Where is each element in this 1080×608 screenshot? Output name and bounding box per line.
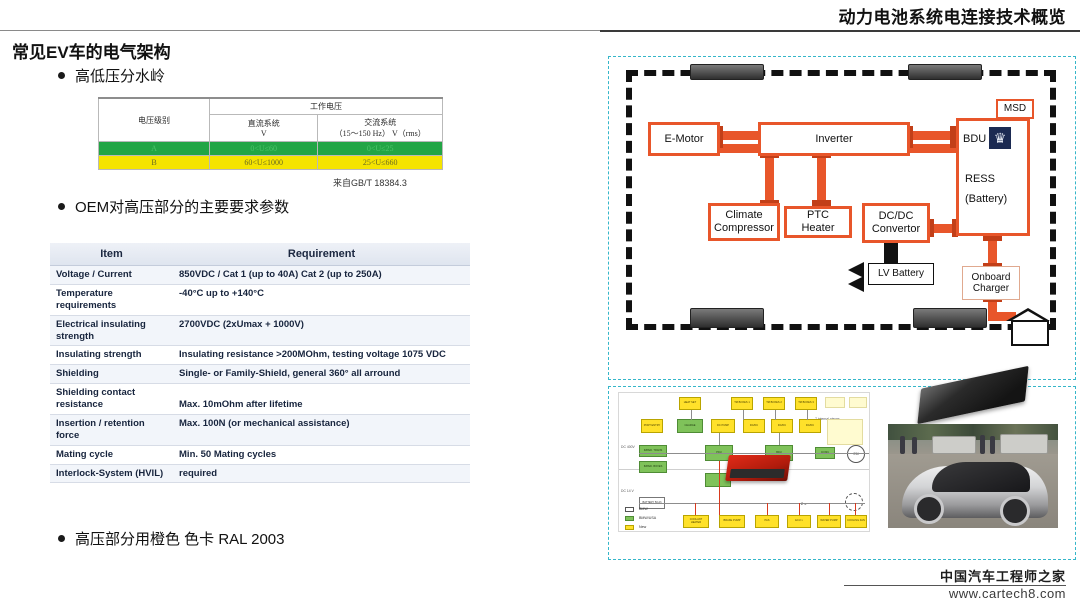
requirements-table: Item Requirement Voltage / Current 850VD… <box>50 243 470 483</box>
schematic-node: DC/DC <box>743 419 765 433</box>
photo-background-person <box>980 435 985 454</box>
schematic-wire <box>743 410 744 420</box>
cell-dc-unit: V <box>261 129 267 138</box>
schematic-node: PORT ENTRY <box>641 419 663 433</box>
header-rule <box>600 30 1080 32</box>
schematic-node: HEAT SET <box>679 397 701 410</box>
cell-requirement: Min. 50 Mating cycles <box>173 445 470 464</box>
legend-swatch-bmw <box>625 507 634 512</box>
schematic-wire-red <box>719 461 720 515</box>
cell-b-ac: 25<U≤660 <box>318 156 443 170</box>
photo-car-wheel <box>914 494 944 524</box>
block-label-climate-compressor: Climate Compressor <box>713 209 775 234</box>
block-label-lv-battery: LV Battery <box>878 268 924 280</box>
table-row-class-b: B 60<U≤1000 25<U≤660 <box>99 156 443 170</box>
cell-a-dc: 0<U≤60 <box>210 142 318 156</box>
cell-requirement: Max. 100N (or mechanical assistance) <box>173 414 470 445</box>
block-label-ptc-heater: PTC Heater <box>789 209 847 234</box>
block-e-motor[interactable]: E-Motor <box>648 122 720 156</box>
schematic-wire-red <box>829 503 830 515</box>
schematic-node: WATER PUMP <box>817 515 841 528</box>
schematic-wire-red <box>695 503 696 515</box>
schematic-node: TM BOXES 3 <box>795 397 817 410</box>
schematic-node: COOLANT HEATER <box>683 515 709 528</box>
ecu-photo <box>725 455 791 481</box>
schematic-wire <box>779 433 780 445</box>
schematic-node: ECU x <box>787 515 811 528</box>
table-row: Voltage / Current 850VDC / Cat 1 (up to … <box>50 266 470 285</box>
bullet-dot-icon <box>58 535 65 542</box>
schematic-wire-red <box>855 503 856 515</box>
table-row-header: Item Requirement <box>50 243 470 266</box>
cell-item: Insulating strength <box>50 346 173 365</box>
photo-background-van <box>1000 434 1048 454</box>
ecu-face <box>730 469 785 478</box>
schematic-wire-red <box>799 503 800 515</box>
block-onboard-charger[interactable]: Onboard Charger <box>962 266 1020 300</box>
hv-bus-inverter-bdu <box>908 131 956 140</box>
block-climate-compressor[interactable]: Climate Compressor <box>708 203 780 241</box>
block-ress-battery[interactable]: BDU ♛ RESS (Battery) <box>956 118 1030 236</box>
table-row: Insulating strength Insulating resistanc… <box>50 346 470 365</box>
photo-background-person <box>912 437 917 454</box>
cell-item: Temperature requirements <box>50 284 173 315</box>
hv-bus-inverter-climate <box>765 155 774 205</box>
block-label-ress: RESS <box>965 173 995 186</box>
table-row: Mating cycle Min. 50 Mating cycles <box>50 445 470 464</box>
bullet-dot-icon <box>58 72 65 79</box>
cell-level-header: 电压级别 <box>99 98 210 142</box>
hv-bus-inverter-ptc <box>817 155 826 205</box>
wheel-front-bottom <box>690 308 764 328</box>
schematic-node: DC/DC <box>771 419 793 433</box>
wiring-schematic-diagram[interactable]: DC 400V DC 14 V 7 internal pieces HEAT S… <box>618 392 870 532</box>
legend-swatch-bmw-usa <box>625 516 634 521</box>
cell-requirement: Single- or Family-Shield, general 360° a… <box>173 365 470 384</box>
msd-connector-icon: ♛ <box>989 127 1011 149</box>
schematic-node-faded <box>827 419 863 445</box>
wheel-rear-bottom <box>913 308 987 328</box>
table-row: Temperature requirements -40°C up to +14… <box>50 284 470 315</box>
block-label-msd: MSD <box>1004 103 1026 115</box>
table-row-class-a: A 0<U≤60 0<U≤25 <box>99 142 443 156</box>
table-row-header-1: 电压级别 工作电压 <box>99 98 443 115</box>
bullet-item-2: OEM对高压部分的主要要求参数 <box>58 196 289 217</box>
schematic-node: CHARGE <box>677 419 703 433</box>
rail-label-lv: DC 14 V <box>621 489 634 493</box>
bullet-item-1: 高低压分水岭 <box>58 65 165 86</box>
schematic-node: IMPED. BOXES <box>639 461 667 473</box>
legend-label-new: New <box>639 525 646 529</box>
block-label-dcdc-convertor: DC/DC Convertor <box>867 210 925 235</box>
hv-connector-cap <box>983 236 1002 241</box>
legend-swatch-new <box>625 525 634 530</box>
cell-item: Mating cycle <box>50 445 173 464</box>
cell-dc-header: 直流系统 V <box>210 115 318 142</box>
lv-arrow-icon <box>848 276 864 292</box>
schematic-wire-hv <box>639 453 869 454</box>
table-row: Shielding contact resistance Max. 10mOhm… <box>50 384 470 415</box>
cell-item: Electrical insulating strength <box>50 315 173 346</box>
footer-site-name: 中国汽车工程师之家 <box>940 566 1066 585</box>
bullet-item-3: 高压部分用橙色 色卡 RAL 2003 <box>58 528 285 549</box>
page-header: 动力电池系统电连接技术概览 <box>0 0 1080 32</box>
hv-bus-inverter-bdu-2 <box>908 144 956 153</box>
charge-inlet-icon <box>1011 320 1049 346</box>
schematic-node: IMPED. TRANS <box>639 445 667 457</box>
block-label-e-motor: E-Motor <box>664 133 703 146</box>
wheel-front-top <box>690 64 764 80</box>
photo-background-person <box>900 436 905 454</box>
schematic-wire <box>775 410 776 420</box>
cell-requirement: -40°C up to +140°C <box>173 284 470 315</box>
table-row: Insertion / retention force Max. 100N (o… <box>50 414 470 445</box>
block-label-ress-sub: (Battery) <box>965 193 1007 206</box>
cell-a-ac: 0<U≤25 <box>318 142 443 156</box>
wheel-rear-top <box>908 64 982 80</box>
schematic-node: DC/DC <box>799 419 821 433</box>
cell-item: Voltage / Current <box>50 266 173 285</box>
cell-item: Insertion / retention force <box>50 414 173 445</box>
cell-b-dc: 60<U≤1000 <box>210 156 318 170</box>
cell-b-level: B <box>99 156 210 170</box>
schematic-node: DC PUMP <box>711 419 735 433</box>
cell-working-voltage-header: 工作电压 <box>210 98 443 115</box>
schematic-node-faded <box>849 397 867 408</box>
legend-label-bmw-usa: BMW/USA <box>639 516 656 520</box>
schematic-node: TM BOXES 2 <box>763 397 785 410</box>
cell-item: Shielding <box>50 365 173 384</box>
cell-requirement: Max. 10mOhm after lifetime <box>173 384 470 415</box>
cell-item: Shielding contact resistance <box>50 384 173 415</box>
bullet-label-2: OEM对高压部分的主要要求参数 <box>75 196 289 217</box>
column-header-item: Item <box>50 243 173 266</box>
cell-item: Interlock-System (HVIL) <box>50 464 173 483</box>
photo-car-solar-roof <box>932 462 1030 492</box>
schematic-node: COOLING FAN <box>845 515 867 528</box>
schematic-node: TM BOXES 1 <box>731 397 753 410</box>
silver-coupe-photo <box>888 424 1058 528</box>
cell-ac-header: 交流系统 （15～150 Hz） V（rms） <box>318 115 443 142</box>
schematic-wire-red <box>767 503 768 515</box>
block-ptc-heater[interactable]: PTC Heater <box>784 206 852 238</box>
photo-background-person <box>990 436 995 454</box>
bullet-dot-icon <box>58 203 65 210</box>
block-inverter[interactable]: Inverter <box>758 122 910 156</box>
cell-requirement: 850VDC / Cat 1 (up to 40A) Cat 2 (up to … <box>173 266 470 285</box>
cell-requirement: required <box>173 464 470 483</box>
cell-requirement: 2700VDC (2xUmax + 1000V) <box>173 315 470 346</box>
table-row: Electrical insulating strength 2700VDC (… <box>50 315 470 346</box>
bullet-label-3: 高压部分用橙色 色卡 RAL 2003 <box>75 528 285 549</box>
block-dcdc-convertor[interactable]: DC/DC Convertor <box>862 203 930 243</box>
table-row: Shielding Single- or Family-Shield, gene… <box>50 365 470 384</box>
block-msd[interactable]: MSD <box>996 99 1034 119</box>
header-title: 动力电池系统电连接技术概览 <box>839 3 1067 28</box>
photo-background-van <box>932 436 976 454</box>
cell-ac-system: 交流系统 <box>364 118 396 127</box>
schematic-node-faded <box>825 397 845 408</box>
schematic-motor-node: EM <box>847 445 865 463</box>
cell-ac-unit: （15～150 Hz） V（rms） <box>335 129 426 138</box>
schematic-node: PAS <box>755 515 779 528</box>
rail-label-hv: DC 400V <box>621 445 635 449</box>
block-lv-battery[interactable]: LV Battery <box>868 263 934 285</box>
table-row: Interlock-System (HVIL) required <box>50 464 470 483</box>
bullet-label-1: 高低压分水岭 <box>75 65 165 86</box>
legend-label-bmw: BMW <box>639 507 648 511</box>
cell-dc-system: 直流系统 <box>248 119 280 128</box>
schematic-wire <box>807 410 808 420</box>
schematic-node: BRAKE PUMP <box>719 515 745 528</box>
block-label-bdu: BDU <box>963 133 986 146</box>
cell-requirement: Insulating resistance >200MOhm, testing … <box>173 346 470 365</box>
schematic-wire <box>691 410 692 420</box>
block-label-onboard-charger: Onboard Charger <box>965 272 1017 295</box>
block-label-inverter: Inverter <box>815 133 852 146</box>
schematic-ghost-node <box>845 493 863 511</box>
footer-url: www.cartech8.com <box>949 586 1066 601</box>
column-header-requirement: Requirement <box>173 243 470 266</box>
voltage-table-source: 来自GB/T 18384.3 <box>333 176 407 189</box>
schematic-wire <box>719 433 720 445</box>
voltage-class-table: 电压级别 工作电压 直流系统 V 交流系统 （15～150 Hz） V（rms）… <box>98 97 443 170</box>
photo-car-wheel <box>1000 496 1030 526</box>
header-rule-left <box>0 30 600 31</box>
cell-a-level: A <box>99 142 210 156</box>
page-title: 常见EV车的电气架构 <box>12 38 171 63</box>
schematic-wire-lv <box>639 503 865 504</box>
